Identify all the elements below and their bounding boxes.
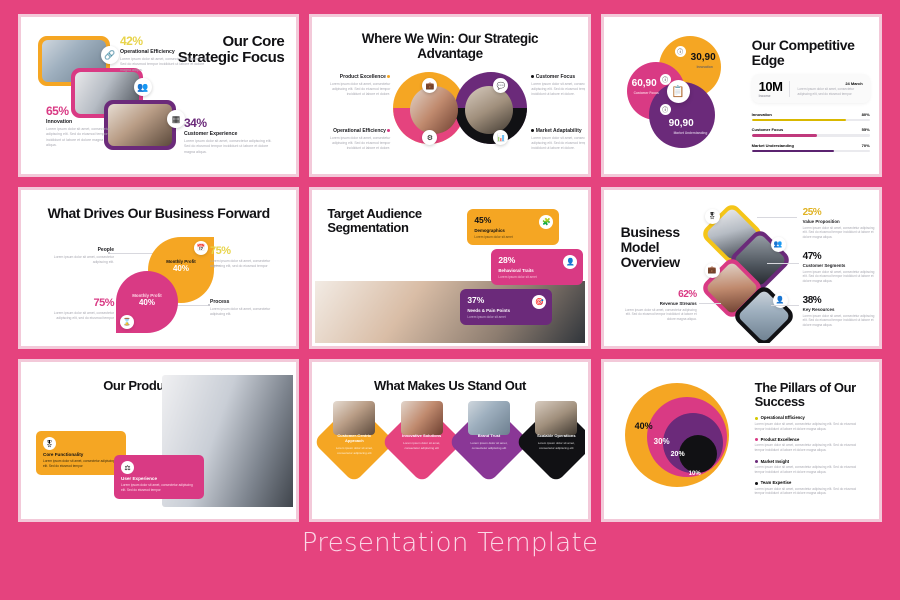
stat-block-innovation: 65% Innovation Lorem ipsum dolor sit ame…	[46, 104, 114, 149]
bullet-dot-icon	[531, 75, 534, 78]
progress-label: Customer Focus	[752, 127, 784, 132]
slide-competitive-edge[interactable]: Our Competitive Edge ⓘ ⓘ ⓘ 📋 30,90 Innov…	[601, 14, 882, 177]
stat-value: 25%	[803, 207, 875, 218]
diamond-item-scalable-operations[interactable]: Scalable Operations Lorem ipsum dolor si…	[527, 413, 584, 471]
stat-label: Innovation	[46, 119, 114, 125]
stat-block-operational-efficiency: 42% Operational Efficiency Lorem ipsum d…	[120, 34, 210, 73]
info-icon: ⓘ	[675, 46, 686, 57]
list-item: Product Excellence Lorem ipsum dolor sit…	[755, 437, 867, 453]
kpi-card: 10M Income 24 March Lorem ipsum dolor si…	[752, 74, 870, 103]
info-value: 75%	[210, 245, 272, 257]
bullet-dot-icon	[387, 75, 390, 78]
stat-value: 42%	[120, 34, 210, 48]
diamond-item-innovative-solutions[interactable]: Innovative Solutions Lorem ipsum dolor s…	[393, 413, 451, 471]
stat-value: 65%	[46, 104, 114, 118]
kpi-value: 10M	[759, 79, 783, 94]
ring-value-20: 20%	[671, 451, 685, 458]
info-block-pct-top: 75% Lorem ipsum dolor sit amet, consecte…	[210, 245, 272, 269]
list-item: Operational Efficiency Lorem ipsum dolor…	[755, 415, 867, 431]
progress-value: 55%	[862, 127, 870, 132]
list-item-name: Operational Efficiency	[761, 415, 805, 420]
list-item: Team Expertise Lorem ipsum dolor sit ame…	[755, 480, 867, 496]
bullet-block-customer-focus: Customer Focus Lorem ipsum dolor sit ame…	[531, 74, 584, 97]
item-photo	[468, 401, 510, 435]
stat-body: Lorem ipsum dolor sit amet, consectetur …	[46, 127, 114, 149]
list-item-body: Lorem ipsum dolor sit amet, consectetur …	[755, 422, 867, 432]
progress-fill	[752, 134, 817, 136]
ring-value-30: 30%	[654, 437, 670, 446]
info-block-people: People Lorem ipsum dolor sit amet, conse…	[52, 247, 114, 265]
bullet-block-market-adaptability: Market Adaptability Lorem ipsum dolor si…	[531, 128, 584, 151]
stat-block-value-proposition: 25% Value Proposition Lorem ipsum dolor …	[803, 207, 875, 240]
segment-name: Behavioral Traits	[498, 268, 576, 273]
bullet-label-text: Market Adaptability	[536, 128, 582, 134]
bullet-body: Lorem ipsum dolor sit amet, consectetur …	[531, 136, 584, 151]
bullet-label-text: Customer Focus	[536, 74, 575, 80]
photo-card-3: ▦	[104, 100, 176, 150]
progress-track	[752, 150, 870, 152]
connector-line	[757, 217, 797, 218]
ring-value-10: 10%	[689, 471, 701, 477]
bullet-body: Lorem ipsum dolor sit amet, consectetur …	[531, 82, 584, 97]
connector-line	[767, 263, 799, 264]
photo-right	[465, 86, 513, 134]
slide-business-model[interactable]: Business Model Overview 🎖 👥 💼 👤 25% Valu…	[601, 187, 882, 350]
info-body: Lorem ipsum dolor sit amet, consectetur …	[210, 259, 272, 269]
link-icon: 🔗	[101, 46, 119, 64]
bullet-label-text: Operational Efficiency	[333, 128, 386, 134]
bubble-value-customer-focus: 60,90	[632, 78, 657, 89]
bullet-label: Customer Focus	[531, 74, 584, 80]
bullet-dot-icon	[755, 482, 758, 485]
info-body: Lorem ipsum dolor sit amet, consectetur …	[52, 311, 114, 321]
stat-body: Lorem ipsum dolor sit amet, consectetur …	[184, 139, 276, 155]
stat-block-revenue-streams: 62% Revenue Streams Lorem ipsum dolor si…	[625, 289, 697, 322]
stat-block-customer-segments: 47% Customer Segments Lorem ipsum dolor …	[803, 251, 875, 284]
stat-label: Revenue Streams	[625, 301, 697, 306]
bullet-label: Product Excellence	[326, 74, 390, 80]
kpi-date: 24 March	[797, 81, 862, 86]
bullet-label: Operational Efficiency	[326, 128, 390, 134]
bullet-label-text: Product Excellence	[340, 74, 386, 80]
stat-value: 47%	[803, 251, 875, 262]
stat-label: Customer Experience	[184, 131, 276, 137]
bullet-dot-icon	[531, 129, 534, 132]
bullet-dot-icon	[755, 460, 758, 463]
progress-bar-list: Innovation 80% Customer Focus 55% Market…	[752, 112, 870, 158]
diamond-row: Customer-Centric Approach Lorem ipsum do…	[325, 413, 584, 471]
slide-core-strategic-focus[interactable]: Our Core Strategic Focus 🔗 👥 ▦ 42% Opera…	[18, 14, 299, 177]
footer-caption: Presentation Template	[0, 528, 900, 558]
grid-icon: ▦	[167, 110, 185, 128]
info-icon: ⓘ	[660, 104, 671, 115]
calendar-icon: 📅	[194, 241, 208, 255]
item-name: Scalable Operations	[533, 433, 579, 438]
pillar-body: Lorem ipsum dolor sit amet, consectetur …	[121, 483, 197, 493]
bullet-body: Lorem ipsum dolor sit amet, consectetur …	[326, 82, 390, 97]
item-body: Lorem ipsum dolor sit amet, consectetur …	[399, 441, 445, 449]
item-photo	[333, 401, 375, 435]
segment-card-demographics[interactable]: 45% Demographics Lorem ipsum dolor sit a…	[467, 209, 559, 245]
stat-value: 34%	[184, 116, 276, 130]
slide-what-drives-business[interactable]: What Drives Our Business Forward Monthly…	[18, 187, 299, 350]
list-item-body: Lorem ipsum dolor sit amet, consectetur …	[755, 465, 867, 475]
slide-product-pillars[interactable]: Our Product Pillars 🎖 Core Functionality…	[18, 359, 299, 522]
kpi-body: Lorem ipsum dolor sit amet, consectetur …	[797, 87, 862, 97]
pillar-name: Core Functionality	[43, 452, 119, 457]
page-title: What Makes Us Stand Out	[370, 379, 530, 393]
slide-target-audience[interactable]: Target Audience Segmentation 45% Demogra…	[309, 187, 590, 350]
page-title: Target Audience Segmentation	[327, 207, 437, 235]
progress-row-customer-focus: Customer Focus 55%	[752, 127, 870, 136]
segment-name: Demographics	[474, 228, 552, 233]
list-item-name: Team Expertise	[761, 480, 792, 485]
segment-name: Needs & Pain Points	[467, 308, 545, 313]
bullet-dot-icon	[755, 417, 758, 420]
stat-body: Lorem ipsum dolor sit amet, consectetur …	[803, 270, 875, 284]
stat-body: Lorem ipsum dolor sit amet, consectetur …	[625, 308, 697, 322]
bullet-dot-icon	[387, 129, 390, 132]
chart-icon: 📊	[493, 130, 508, 145]
stat-body: Lorem ipsum dolor sit amet, consectetur …	[803, 226, 875, 240]
bag-icon: 💼	[705, 263, 720, 278]
item-body: Lorem ipsum dolor sit amet, consectetur …	[533, 441, 579, 449]
bubble-value-market-understanding: 90,90	[669, 118, 694, 129]
segment-body: Lorem ipsum dolor sit amet	[498, 275, 576, 279]
info-value: 75%	[52, 297, 114, 309]
leaf-value: 40%	[148, 264, 214, 273]
puzzle-icon: 🧩	[539, 215, 553, 229]
page-title: The Pillars of Our Success	[755, 381, 865, 409]
connector-line	[110, 253, 156, 254]
slide-pillars-of-success[interactable]: The Pillars of Our Success 40% 30% 20% 1…	[601, 359, 882, 522]
stat-block-key-resources: 38% Key Resources Lorem ipsum dolor sit …	[803, 295, 875, 328]
info-label: People	[52, 247, 114, 253]
page-title: Where We Win: Our Strategic Advantage	[350, 32, 550, 61]
segment-body: Lorem ipsum dolor sit amet	[467, 315, 545, 319]
list-item-name: Market Insight	[761, 459, 789, 464]
target-icon: 🎯	[532, 295, 546, 309]
progress-value: 80%	[862, 112, 870, 117]
connector-line	[176, 305, 208, 306]
pillar-name: User Experience	[121, 476, 197, 481]
progress-label: Market Understanding	[752, 143, 794, 148]
stat-label: Operational Efficiency	[120, 49, 210, 55]
stat-body: Lorem ipsum dolor sit amet, consectetur …	[120, 57, 210, 73]
slide-grid: Our Core Strategic Focus 🔗 👥 ▦ 42% Opera…	[18, 14, 882, 522]
info-block-process: Process Lorem ipsum dolor sit amet, cons…	[210, 299, 272, 317]
progress-value: 70%	[862, 143, 870, 148]
stat-value: 62%	[625, 289, 697, 300]
clipboard-icon: 📋	[667, 80, 690, 103]
bullet-dot-icon	[755, 438, 758, 441]
page-title: Business Model Overview	[621, 225, 701, 270]
page-title: Our Competitive Edge	[752, 38, 862, 68]
bullet-block-operational-efficiency: Operational Efficiency Lorem ipsum dolor…	[326, 128, 390, 151]
photo-left	[410, 86, 458, 134]
info-body: Lorem ipsum dolor sit amet, consectetur …	[52, 255, 114, 265]
info-label: Process	[210, 299, 272, 305]
pillar-list: Operational Efficiency Lorem ipsum dolor…	[755, 415, 867, 501]
bubble-label-market-understanding: Market Understanding	[674, 131, 714, 135]
item-name: Brand Trust	[466, 433, 512, 438]
stat-label: Customer Segments	[803, 263, 875, 268]
list-item-name: Product Excellence	[761, 437, 800, 442]
progress-track	[752, 134, 870, 136]
list-item-body: Lorem ipsum dolor sit amet, consectetur …	[755, 487, 867, 497]
diamond-item-customer-centric[interactable]: Customer-Centric Approach Lorem ipsum do…	[325, 413, 383, 471]
users-icon: 👥	[134, 78, 152, 96]
ring-value-40: 40%	[635, 421, 653, 431]
connector-line	[699, 303, 721, 304]
person-icon: 👤	[563, 255, 577, 269]
segment-body: Lorem ipsum dolor sit amet	[474, 235, 552, 239]
kpi-caption: Income	[759, 94, 783, 98]
list-item: Market Insight Lorem ipsum dolor sit ame…	[755, 459, 867, 475]
slide-what-makes-us-stand-out[interactable]: What Makes Us Stand Out Customer-Centric…	[309, 359, 590, 522]
progress-label: Innovation	[752, 112, 772, 117]
page-title: What Drives Our Business Forward	[39, 206, 279, 221]
slide-where-we-win[interactable]: Where We Win: Our Strategic Advantage 💼 …	[309, 14, 590, 177]
info-body: Lorem ipsum dolor sit amet, consectetur …	[210, 307, 272, 317]
progress-fill	[752, 150, 835, 152]
stat-block-customer-experience: 34% Customer Experience Lorem ipsum dolo…	[184, 116, 276, 155]
leaf-value: 40%	[116, 298, 178, 307]
pillar-card-core-functionality[interactable]: 🎖 Core Functionality Lorem ipsum dolor s…	[36, 431, 126, 475]
diamond-item-brand-trust[interactable]: Brand Trust Lorem ipsum dolor sit amet, …	[460, 413, 518, 471]
item-name: Customer-Centric Approach	[331, 433, 377, 443]
stat-body: Lorem ipsum dolor sit amet, consectetur …	[803, 314, 875, 328]
stat-label: Key Resources	[803, 307, 875, 312]
pillar-body: Lorem ipsum dolor sit amet, consectetur …	[43, 459, 119, 469]
item-photo	[535, 401, 577, 435]
segment-card-needs-pain-points[interactable]: 37% Needs & Pain Points Lorem ipsum dolo…	[460, 289, 552, 325]
item-body: Lorem ipsum dolor sit amet, consectetur …	[331, 446, 377, 454]
list-item-body: Lorem ipsum dolor sit amet, consectetur …	[755, 443, 867, 453]
item-body: Lorem ipsum dolor sit amet, consectetur …	[466, 441, 512, 449]
kpi-divider	[789, 81, 790, 97]
item-name: Innovative Solutions	[399, 433, 445, 438]
progress-fill	[752, 119, 846, 121]
stat-label: Value Proposition	[803, 219, 875, 224]
item-photo	[401, 401, 443, 435]
bullet-block-product-excellence: Product Excellence Lorem ipsum dolor sit…	[326, 74, 390, 97]
users-icon: 👥	[771, 237, 786, 252]
pillar-card-user-experience[interactable]: ⚖ User Experience Lorem ipsum dolor sit …	[114, 455, 204, 499]
bubble-value-innovation: 30,90	[691, 52, 716, 63]
progress-row-innovation: Innovation 80%	[752, 112, 870, 121]
bullet-body: Lorem ipsum dolor sit amet, consectetur …	[326, 136, 390, 151]
progress-row-market-understanding: Market Understanding 70%	[752, 143, 870, 152]
bullet-label: Market Adaptability	[531, 128, 584, 134]
bubble-label-innovation: Innovation	[697, 65, 713, 69]
hourglass-icon: ⌛	[120, 315, 134, 329]
stat-value: 38%	[803, 295, 875, 306]
bubble-label-customer-focus: Customer Focus	[634, 91, 659, 95]
progress-track	[752, 119, 870, 121]
segment-card-behavioral-traits[interactable]: 28% Behavioral Traits Lorem ipsum dolor …	[491, 249, 583, 285]
badge-icon: 🎖	[705, 209, 720, 224]
connector-line	[771, 305, 799, 306]
info-block-pct-bottom: 75% Lorem ipsum dolor sit amet, consecte…	[52, 297, 114, 321]
